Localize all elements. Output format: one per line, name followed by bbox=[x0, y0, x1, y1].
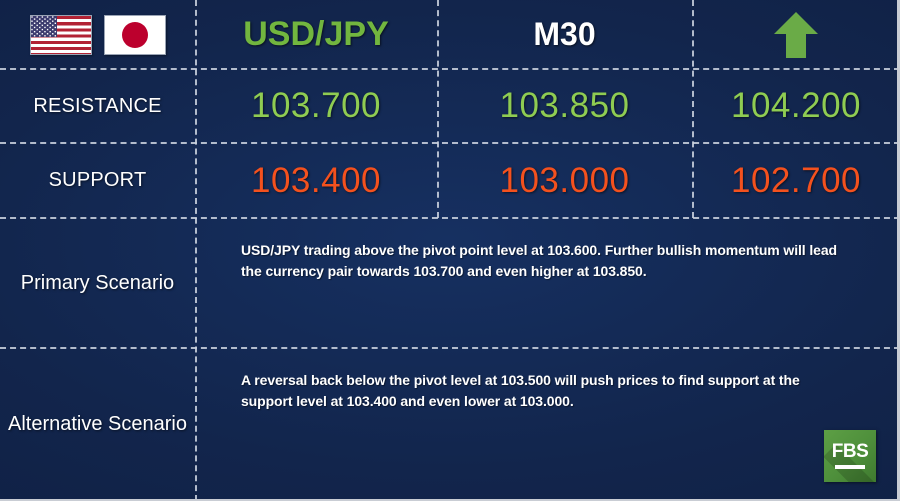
support-label-cell: SUPPORT bbox=[0, 143, 195, 218]
arrow-up-icon bbox=[772, 10, 820, 60]
fbs-logo-text: FBS bbox=[824, 441, 876, 463]
fbs-logo-underline bbox=[835, 465, 865, 469]
alternative-scenario-row: Alternative Scenario A reversal back bel… bbox=[0, 348, 900, 501]
resistance-label: RESISTANCE bbox=[33, 95, 161, 118]
currency-flags bbox=[0, 0, 195, 69]
resistance-label-cell: RESISTANCE bbox=[0, 69, 195, 143]
timeframe-cell: M30 bbox=[437, 0, 692, 69]
primary-scenario-row: Primary Scenario USD/JPY trading above t… bbox=[0, 218, 900, 348]
resistance-value-cell: 104.200 bbox=[692, 69, 900, 143]
support-value-cell: 103.000 bbox=[437, 143, 692, 218]
resistance-row: RESISTANCE 103.700 103.850 104.200 bbox=[0, 69, 900, 143]
support-value-2: 103.000 bbox=[499, 161, 629, 201]
primary-scenario-text: USD/JPY trading above the pivot point le… bbox=[195, 218, 900, 348]
forex-signal-card: USD/JPY M30 RESISTANCE 103.700 103.850 1… bbox=[0, 0, 900, 501]
resistance-value-cell: 103.850 bbox=[437, 69, 692, 143]
resistance-value-1: 103.700 bbox=[251, 86, 381, 126]
primary-scenario-label-cell: Primary Scenario bbox=[0, 218, 195, 348]
support-value-1: 103.400 bbox=[251, 161, 381, 201]
currency-pair-title: USD/JPY bbox=[243, 15, 389, 54]
alternative-scenario-label: Alternative Scenario bbox=[8, 411, 187, 438]
flag-usa-icon bbox=[30, 15, 92, 55]
primary-scenario-label: Primary Scenario bbox=[21, 270, 174, 297]
support-row: SUPPORT 103.400 103.000 102.700 bbox=[0, 143, 900, 218]
fbs-logo: FBS bbox=[824, 430, 876, 482]
timeframe-label: M30 bbox=[533, 16, 595, 53]
alternative-scenario-label-cell: Alternative Scenario bbox=[0, 348, 195, 501]
support-label: SUPPORT bbox=[49, 169, 147, 192]
resistance-value-cell: 103.700 bbox=[195, 69, 437, 143]
flag-japan-icon bbox=[104, 15, 166, 55]
support-value-3: 102.700 bbox=[731, 161, 861, 201]
support-value-cell: 102.700 bbox=[692, 143, 900, 218]
resistance-value-2: 103.850 bbox=[499, 86, 629, 126]
currency-pair-cell: USD/JPY bbox=[195, 0, 437, 69]
resistance-value-3: 104.200 bbox=[731, 86, 861, 126]
header-row: USD/JPY M30 bbox=[0, 0, 900, 69]
alternative-scenario-text: A reversal back below the pivot level at… bbox=[195, 348, 900, 501]
trend-direction-cell bbox=[692, 0, 900, 69]
support-value-cell: 103.400 bbox=[195, 143, 437, 218]
